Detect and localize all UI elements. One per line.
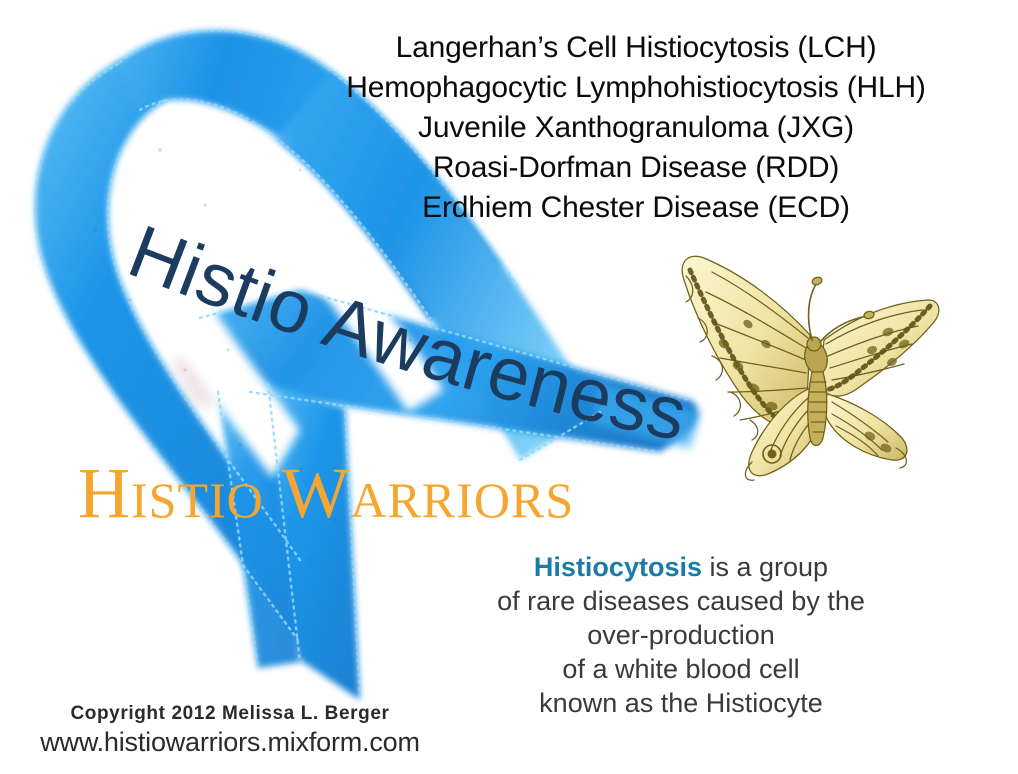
definition-line-1-rest: is a group [702, 552, 828, 582]
disease-list-item: Roasi-Dorfman Disease (RDD) [300, 148, 972, 188]
definition-line-1: Histiocytosis is a group [452, 550, 910, 584]
butterfly-illustration [660, 240, 940, 490]
histio-awareness-text: Histio Awareness [118, 209, 694, 457]
disease-list-item: Juvenile Xanthogranuloma (JXG) [300, 108, 972, 148]
definition-line-3: over-production [452, 618, 910, 652]
copyright-text: Copyright 2012 Melissa L. Berger [0, 702, 460, 726]
disease-list-item: Hemophagocytic Lymphohistiocytosis (HLH) [300, 68, 972, 108]
definition-line-4: of a white blood cell [452, 652, 910, 686]
brand-title: Histio Warriors [78, 455, 968, 531]
poster-canvas: Langerhan’s Cell Histiocytosis (LCH) Hem… [0, 0, 1018, 774]
definition-line-5: known as the Histiocyte [452, 686, 910, 720]
definition-line-2: of rare diseases caused by the [452, 584, 910, 618]
website-url[interactable]: www.histiowarriors.mixform.com [0, 726, 460, 758]
definition-block: Histiocytosis is a group of rare disease… [452, 550, 910, 720]
footer: Copyright 2012 Melissa L. Berger www.his… [0, 702, 460, 758]
disease-list: Langerhan’s Cell Histiocytosis (LCH) Hem… [300, 28, 972, 228]
definition-keyword: Histiocytosis [534, 552, 702, 582]
disease-list-item: Erdhiem Chester Disease (ECD) [300, 188, 972, 228]
histio-awareness-arc: Histio Awareness [116, 232, 696, 472]
disease-list-item: Langerhan’s Cell Histiocytosis (LCH) [300, 28, 972, 68]
